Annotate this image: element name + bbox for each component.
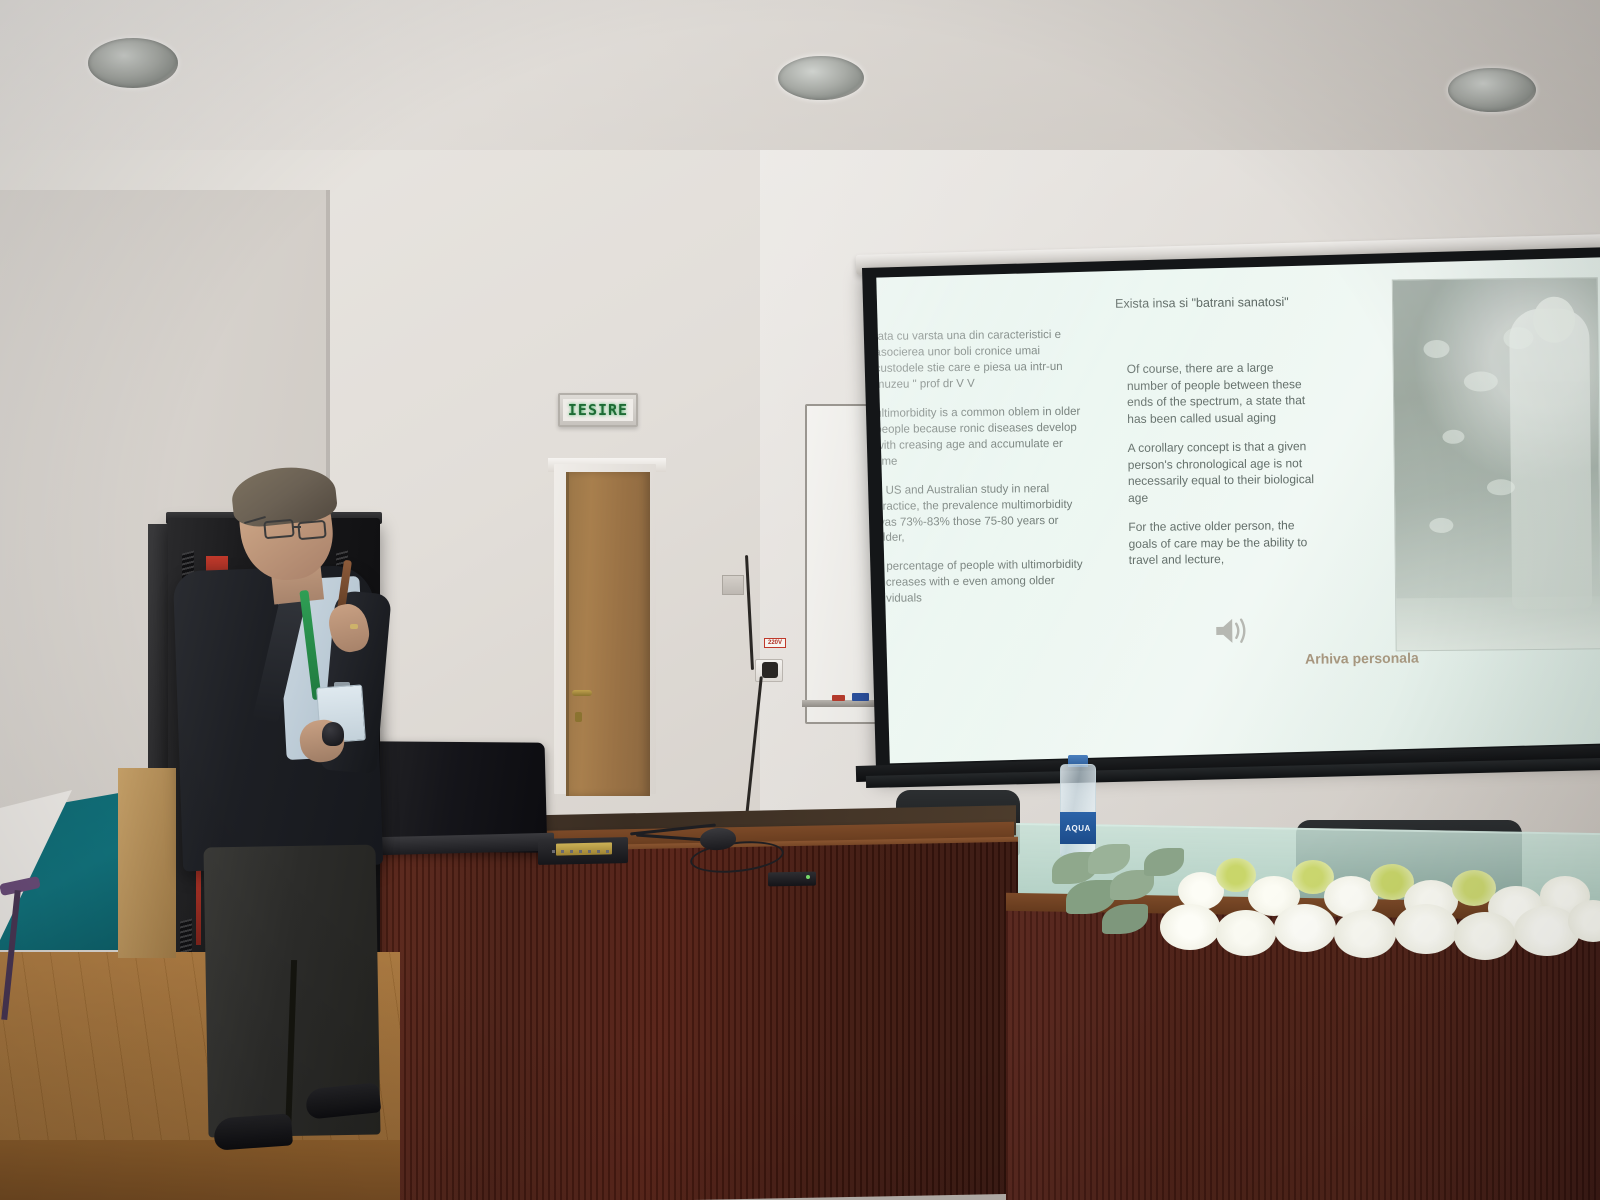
marker-red[interactable] <box>832 695 845 701</box>
slide-left-para-2: a US and Australian study in neral pract… <box>876 482 1086 548</box>
photo-foliage-4 <box>1442 430 1464 444</box>
projected-slide: tata cu varsta una din caracteristici e … <box>876 257 1600 763</box>
slide-heading: Exista insa si "batrani sanatosi" <box>1115 294 1365 311</box>
flower-bloom <box>1334 910 1396 958</box>
bottle-label: AQUA <box>1060 812 1096 844</box>
slide-photograph <box>1392 277 1600 651</box>
wall-mounted-box <box>722 575 744 595</box>
wooden-door[interactable] <box>566 472 650 796</box>
photo-foliage-1 <box>1423 340 1449 358</box>
presenter-ring <box>350 624 358 629</box>
glasses-left-lens <box>263 519 294 540</box>
presentation-remote[interactable] <box>322 722 344 746</box>
speaker-icon <box>1214 616 1248 646</box>
exit-sign: IESIRE <box>558 393 638 427</box>
presenter-shoe-left <box>213 1113 293 1150</box>
flower-arrangement <box>1048 842 1600 962</box>
slide-quote: tata cu varsta una din caracteristici e … <box>876 328 1085 394</box>
podium-front-panel <box>368 842 1018 1200</box>
photo-head <box>1533 297 1575 343</box>
ceiling-spotlight-7 <box>1448 68 1536 112</box>
ceiling-spotlight-1 <box>88 38 178 88</box>
slide-left-column: tata cu varsta una din caracteristici e … <box>876 328 1087 621</box>
av-device-leds <box>552 850 612 853</box>
ceiling-spotlight-5 <box>778 56 864 100</box>
glasses-right-lens <box>297 520 326 540</box>
power-plug[interactable] <box>762 662 778 678</box>
parquet-floor-foreground <box>0 1140 400 1200</box>
flower-bloom <box>1216 910 1276 956</box>
gold-notepad <box>556 842 612 855</box>
photo-figure <box>1509 308 1592 609</box>
projection-screen: tata cu varsta una din caracteristici e … <box>862 247 1600 778</box>
slide-left-para-1: ultimorbidity is a common oblem in older… <box>876 405 1085 471</box>
eucalyptus-leaf-5 <box>1144 848 1184 876</box>
exit-sign-label: IESIRE <box>568 401 628 419</box>
photo-foliage-6 <box>1429 518 1453 533</box>
slide-right-para-1: Of course, there are a large number of p… <box>1127 359 1318 427</box>
flower-bloom <box>1160 904 1220 950</box>
slide-left-para-3: e percentage of people with ultimorbidit… <box>877 558 1087 608</box>
left-side-desk <box>118 768 176 958</box>
eucalyptus-leaf-2 <box>1088 844 1130 874</box>
receiver-status-led <box>806 875 810 879</box>
exit-sign-panel: IESIRE <box>563 399 633 421</box>
wireless-receiver[interactable] <box>768 872 816 887</box>
door-handle-icon[interactable] <box>572 690 592 696</box>
lecture-hall-photo: IESIRE 220V tata cu varsta una din carac… <box>0 0 1600 1200</box>
door-lock-icon <box>575 712 582 722</box>
slide-right-para-2: A corollary concept is that a given pers… <box>1127 438 1318 506</box>
slide-right-column: Of course, there are a large number of p… <box>1127 359 1319 582</box>
bottle-brand-text: AQUA <box>1065 824 1091 833</box>
flower-bloom <box>1454 912 1516 960</box>
marker-blue[interactable] <box>852 693 869 701</box>
eucalyptus-leaf-6 <box>1102 904 1148 934</box>
photo-foliage-2 <box>1464 371 1498 391</box>
socket-voltage-label: 220V <box>764 638 786 648</box>
slide-right-para-3: For the active older person, the goals o… <box>1128 517 1319 569</box>
flower-bloom <box>1394 904 1458 954</box>
slide-photo-credit: Arhiva personala <box>1305 650 1419 667</box>
flower-bloom <box>1274 904 1336 952</box>
